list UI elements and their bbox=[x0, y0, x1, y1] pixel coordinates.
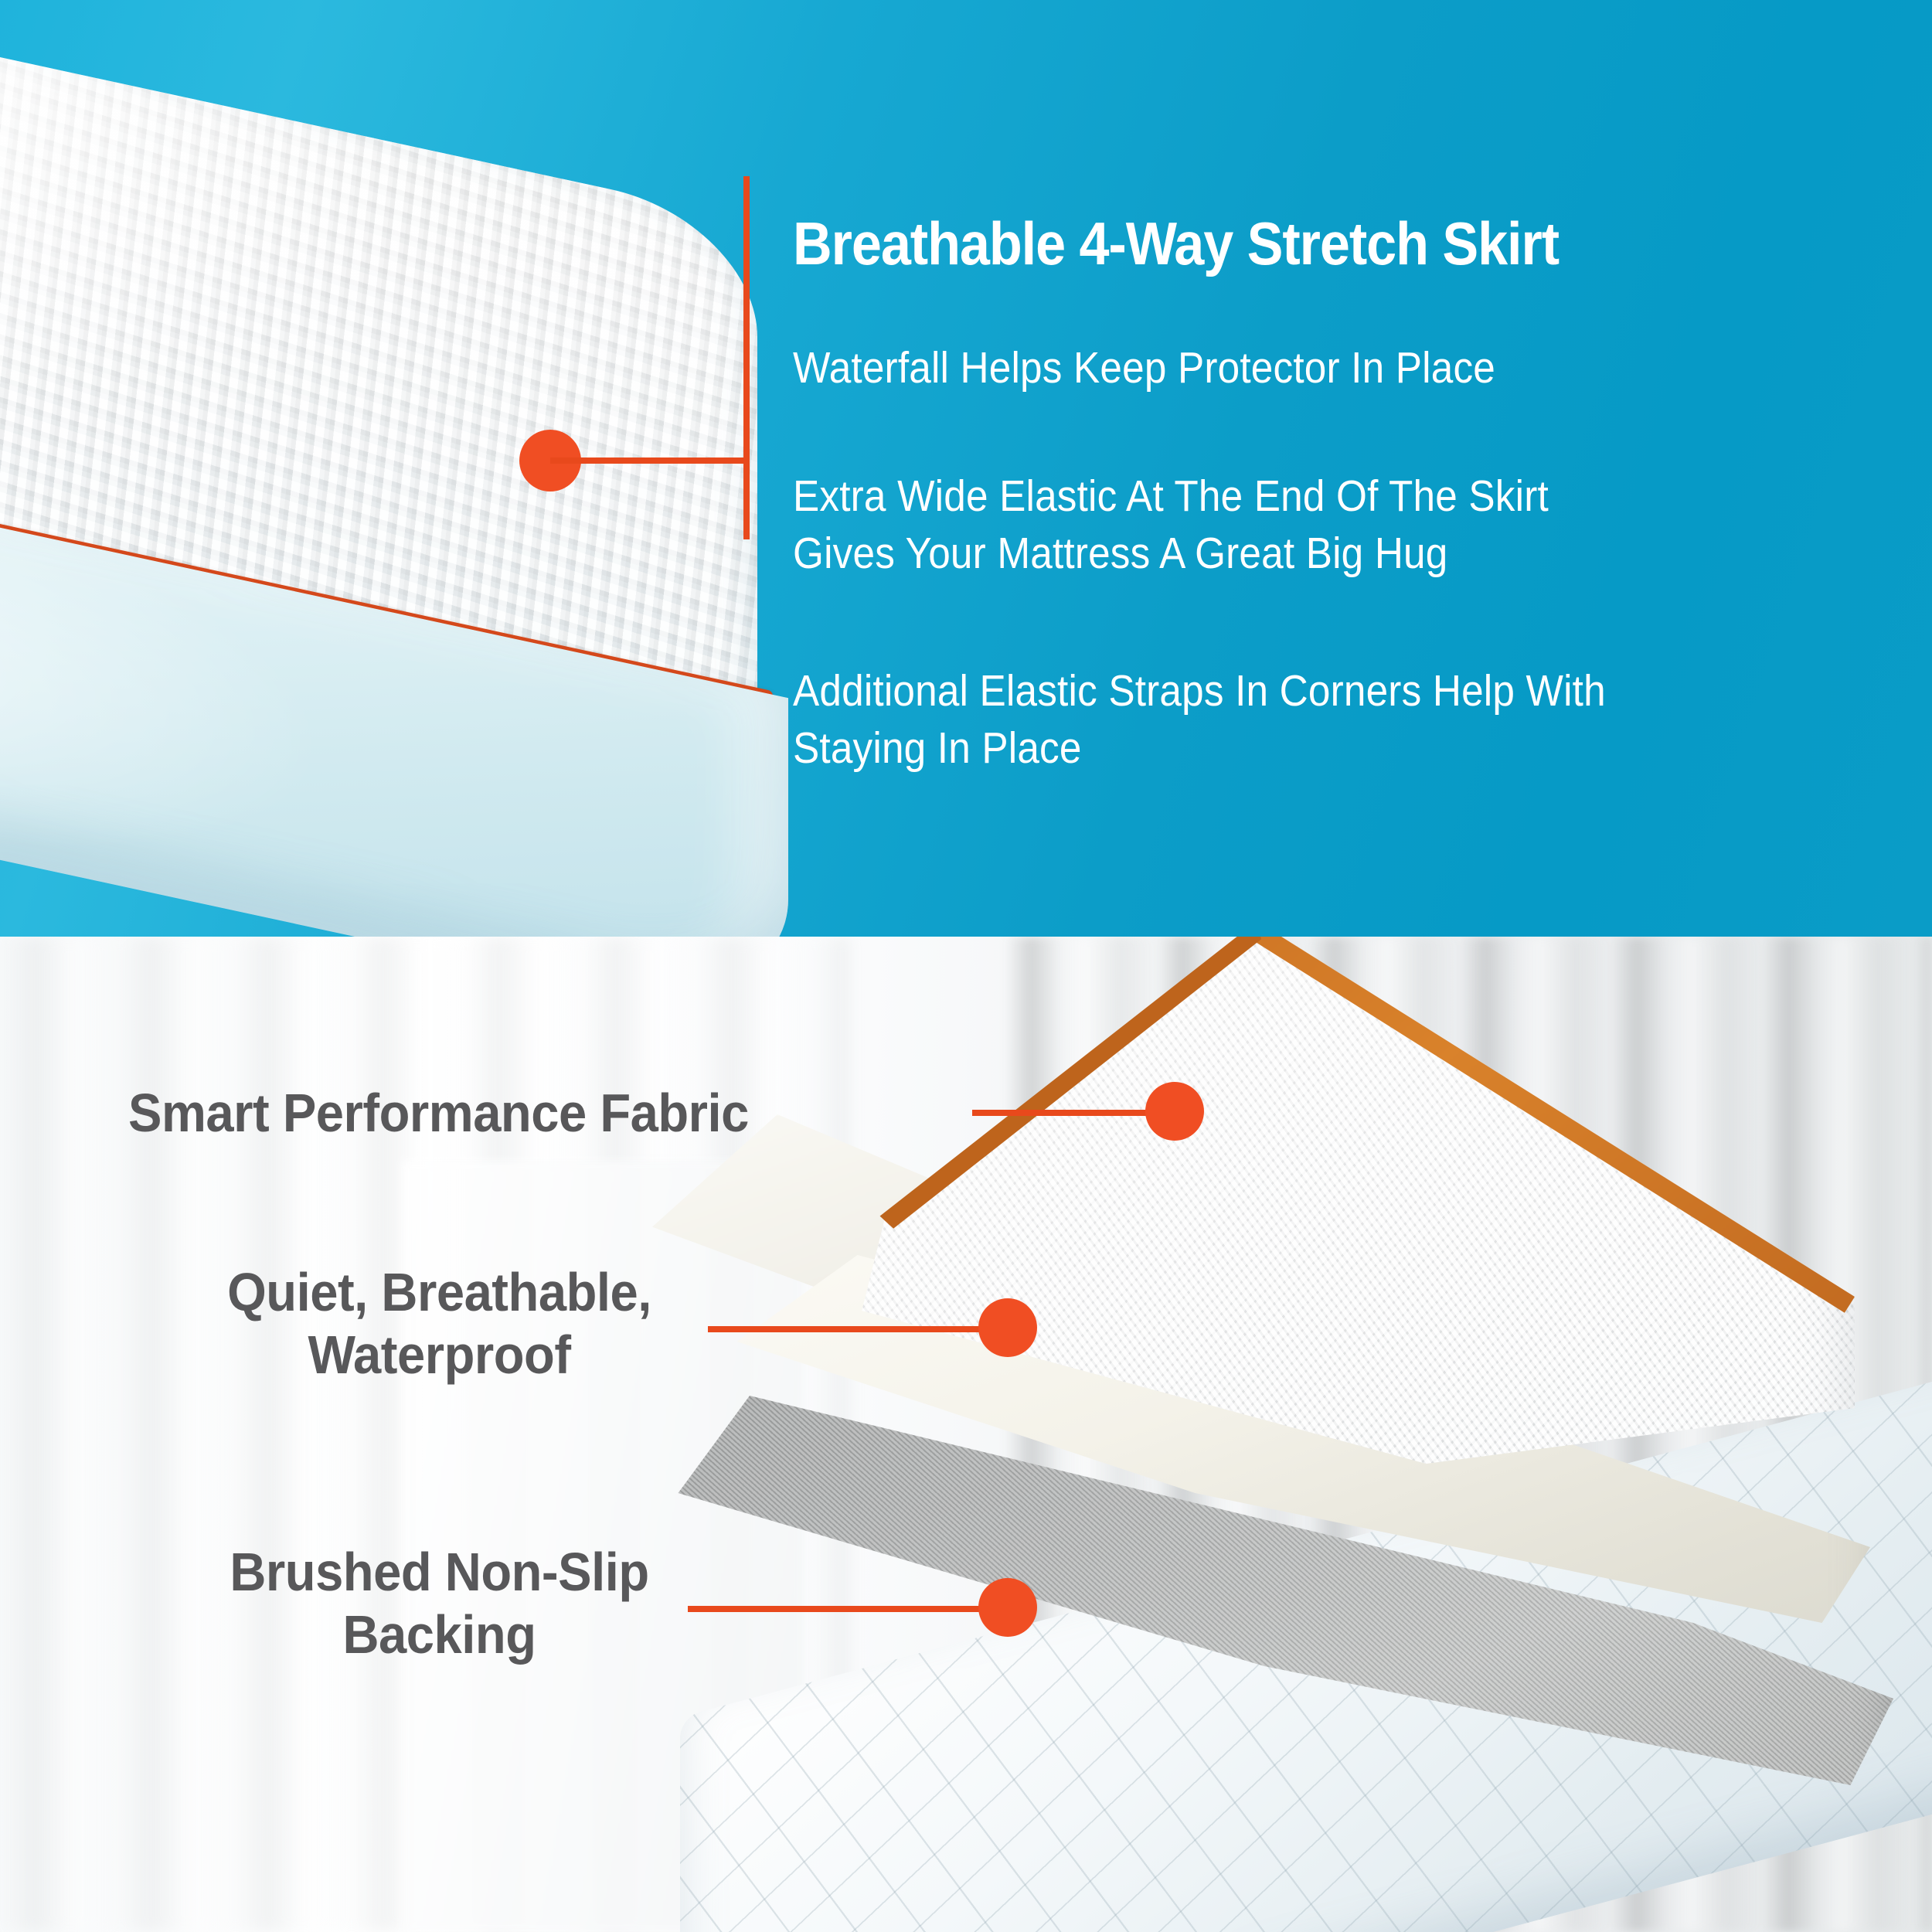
leader-line-smart-performance-fabric bbox=[972, 1110, 1158, 1116]
top-panel-paragraph-3: Additional Elastic Straps In Corners Hel… bbox=[793, 662, 1836, 777]
top-panel-heading: Breathable 4-Way Stretch Skirt bbox=[793, 212, 1781, 276]
label-quiet-breathable-waterproof: Quiet, Breathable, Waterproof bbox=[116, 1261, 763, 1386]
mattress-corner-image bbox=[0, 0, 757, 788]
top-panel-paragraph-2: Extra Wide Elastic At The End Of The Ski… bbox=[793, 468, 1836, 582]
label-brushed-non-slip-backing: Brushed Non-Slip Backing bbox=[116, 1541, 763, 1666]
label-smart-performance-fabric: Smart Performance Fabric bbox=[128, 1082, 890, 1145]
top-feature-panel: Breathable 4-Way Stretch Skirt Waterfall… bbox=[0, 0, 1932, 937]
callout-vertical-rule bbox=[743, 176, 750, 539]
bottom-feature-panel: Smart Performance Fabric Quiet, Breathab… bbox=[0, 937, 1932, 1932]
callout-leader-line-skirt bbox=[550, 457, 745, 464]
top-panel-paragraph-1: Waterfall Helps Keep Protector In Place bbox=[793, 339, 1836, 396]
infographic-stage: Breathable 4-Way Stretch Skirt Waterfall… bbox=[0, 0, 1932, 1932]
callout-dot-quiet-breathable-waterproof[interactable] bbox=[978, 1298, 1037, 1357]
callout-dot-brushed-non-slip-backing[interactable] bbox=[978, 1578, 1037, 1637]
callout-dot-smart-performance-fabric[interactable] bbox=[1145, 1082, 1204, 1141]
